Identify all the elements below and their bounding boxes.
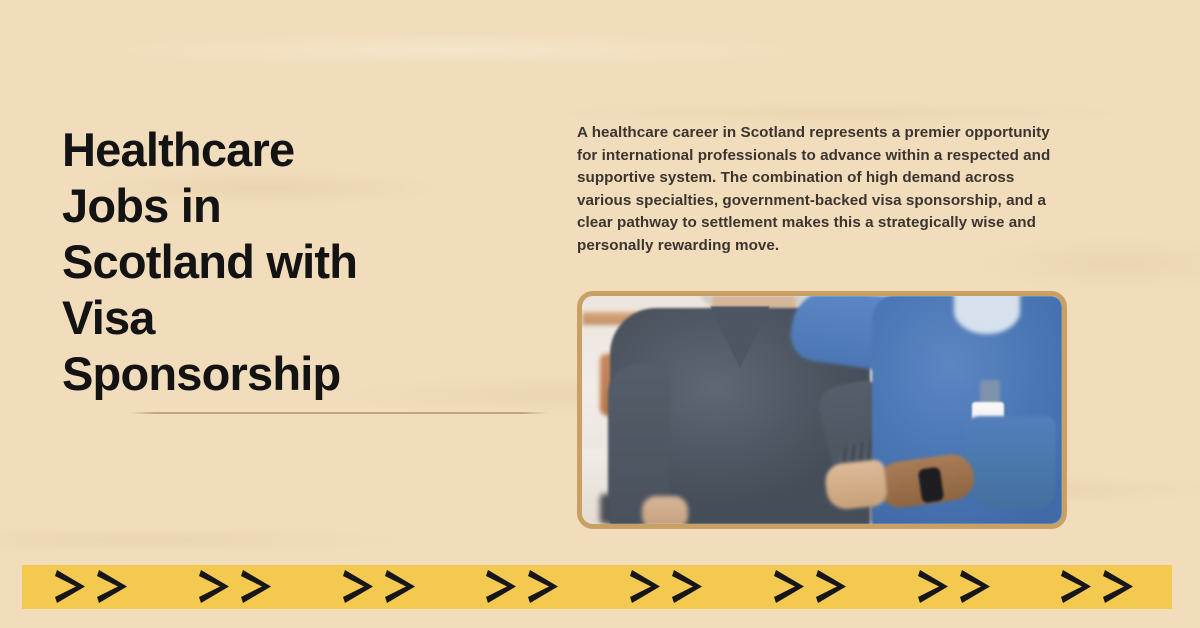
page-title: Healthcare Jobs in Scotland with Visa Sp… [62, 122, 532, 402]
chevron-pair [54, 565, 138, 609]
chevron-right-icon [815, 569, 849, 605]
summary-paragraph: A healthcare career in Scotland represen… [577, 122, 1064, 258]
chevron-arrow-band [22, 565, 1172, 609]
title-block: Healthcare Jobs in Scotland with Visa Sp… [62, 122, 532, 402]
chevron-pair [342, 565, 426, 609]
title-divider [130, 412, 547, 414]
chevron-right-icon [1102, 569, 1136, 605]
chevron-pair [773, 565, 857, 609]
chevron-pair [1060, 565, 1144, 609]
chevron-right-icon [342, 569, 376, 605]
chevron-right-icon [54, 569, 88, 605]
chevron-right-icon [773, 569, 807, 605]
photo-grain-overlay [582, 296, 1062, 524]
chevron-right-icon [629, 569, 663, 605]
chevron-pair [917, 565, 1001, 609]
chevron-right-icon [917, 569, 951, 605]
chevron-pair [198, 565, 282, 609]
chevron-pair [485, 565, 569, 609]
chevron-right-icon [959, 569, 993, 605]
chevron-pair [629, 565, 713, 609]
chevron-right-icon [527, 569, 561, 605]
chevron-right-icon [1060, 569, 1094, 605]
chevron-right-icon [96, 569, 130, 605]
hero-photo-frame [577, 291, 1067, 529]
chevron-right-icon [485, 569, 519, 605]
chevron-right-icon [671, 569, 705, 605]
hero-photo [582, 296, 1062, 524]
chevron-right-icon [384, 569, 418, 605]
chevron-right-icon [240, 569, 274, 605]
chevron-right-icon [198, 569, 232, 605]
